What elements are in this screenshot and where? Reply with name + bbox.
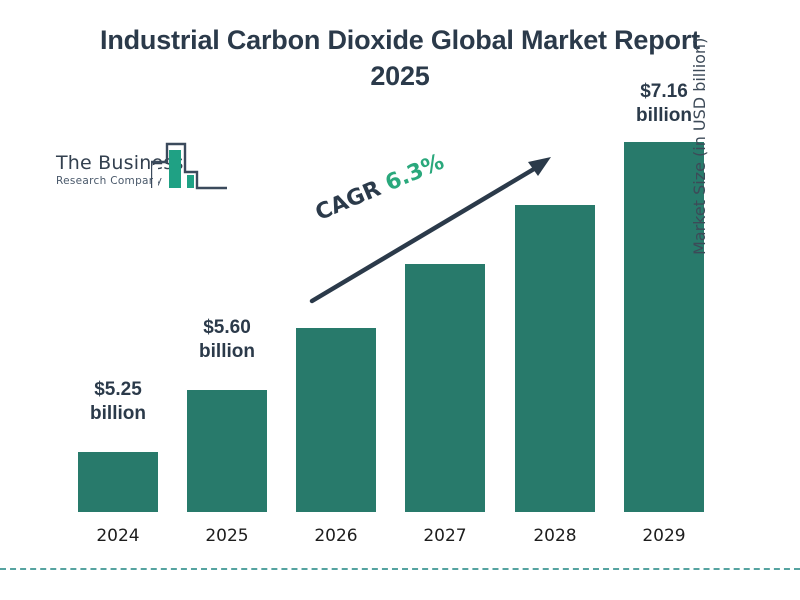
growth-arrow-icon bbox=[0, 0, 800, 600]
bar-chart-plot: $5.25 billion $5.60 billion $7.16 billio… bbox=[0, 0, 800, 600]
y-axis-title: Market Size (in USD billion) bbox=[690, 0, 709, 255]
bottom-divider bbox=[0, 568, 800, 570]
chart-canvas: Industrial Carbon Dioxide Global Market … bbox=[0, 0, 800, 600]
